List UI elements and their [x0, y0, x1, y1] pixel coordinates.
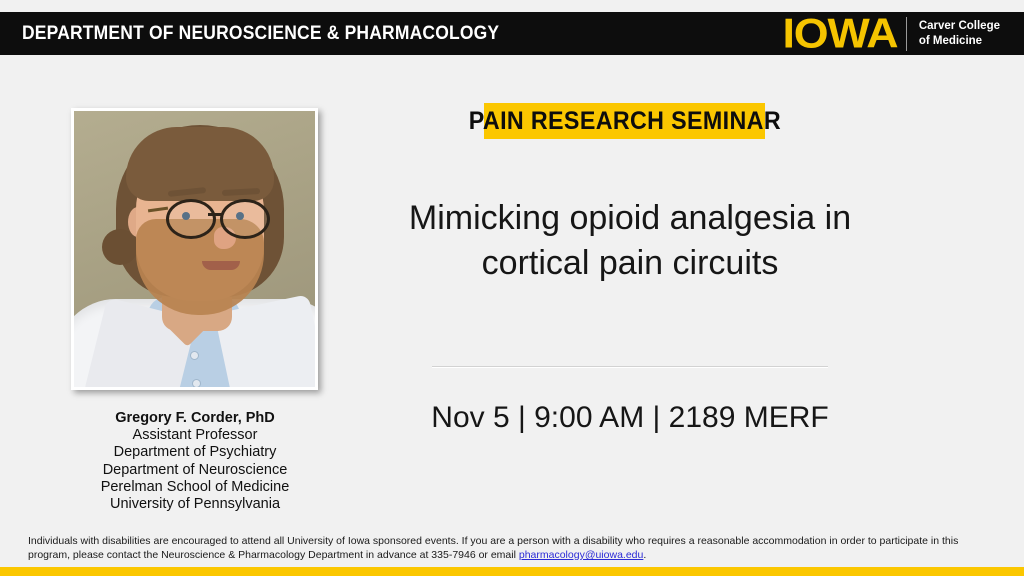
speaker-details: Gregory F. Corder, PhD Assistant Profess…	[30, 409, 360, 513]
photo-shirt-button	[190, 351, 199, 360]
brand-divider-rule	[906, 17, 907, 51]
speaker-affiliation-1: Department of Psychiatry	[30, 444, 360, 461]
carver-college-line-1: Carver College	[919, 19, 1000, 34]
carver-college-label: Carver College of Medicine	[919, 19, 1000, 49]
event-meta: Nov 5 | 9:00 AM | 2189 MERF	[370, 400, 890, 436]
photo-lens-left	[166, 199, 216, 239]
seminar-series-label: PAIN RESEARCH SEMINAR	[468, 107, 780, 136]
university-brand-lockup: IOWA Carver College of Medicine	[789, 12, 1000, 55]
department-title: DEPARTMENT OF NEUROSCIENCE & PHARMACOLOG…	[22, 23, 499, 45]
pharmacology-email-link[interactable]: pharmacology@uiowa.edu	[519, 549, 643, 561]
talk-title-line-2: cortical pain circuits	[370, 241, 890, 286]
speaker-affiliation-4: University of Pennsylvania	[30, 496, 360, 513]
accessibility-disclaimer: Individuals with disabilities are encour…	[28, 534, 998, 562]
photo-eyeglasses	[150, 199, 272, 233]
photo-glasses-temple	[148, 207, 168, 213]
speaker-title: Assistant Professor	[30, 427, 360, 444]
carver-college-line-2: of Medicine	[919, 34, 1000, 49]
talk-title-line-1: Mimicking opioid analgesia in	[370, 196, 890, 241]
seminar-flyer-slide: DEPARTMENT OF NEUROSCIENCE & PHARMACOLOG…	[0, 0, 1024, 576]
photo-shirt-button	[192, 379, 201, 387]
seminar-series-badge: PAIN RESEARCH SEMINAR	[484, 103, 765, 139]
speaker-photo-frame	[71, 108, 318, 390]
bottom-gold-bar	[0, 567, 1024, 576]
photo-glasses-bridge	[208, 213, 222, 216]
photo-mouth	[202, 261, 240, 270]
photo-lens-right	[220, 199, 270, 239]
speaker-photo	[74, 111, 315, 387]
disclaimer-text: Individuals with disabilities are encour…	[28, 535, 958, 561]
section-divider	[432, 366, 828, 368]
header-bar: DEPARTMENT OF NEUROSCIENCE & PHARMACOLOG…	[0, 12, 1024, 55]
iowa-wordmark-logo: IOWA	[783, 13, 905, 55]
talk-title: Mimicking opioid analgesia in cortical p…	[370, 196, 890, 286]
speaker-affiliation-3: Perelman School of Medicine	[30, 479, 360, 496]
disclaimer-text-end: .	[643, 549, 646, 561]
speaker-name: Gregory F. Corder, PhD	[30, 409, 360, 427]
speaker-affiliation-2: Department of Neuroscience	[30, 462, 360, 479]
